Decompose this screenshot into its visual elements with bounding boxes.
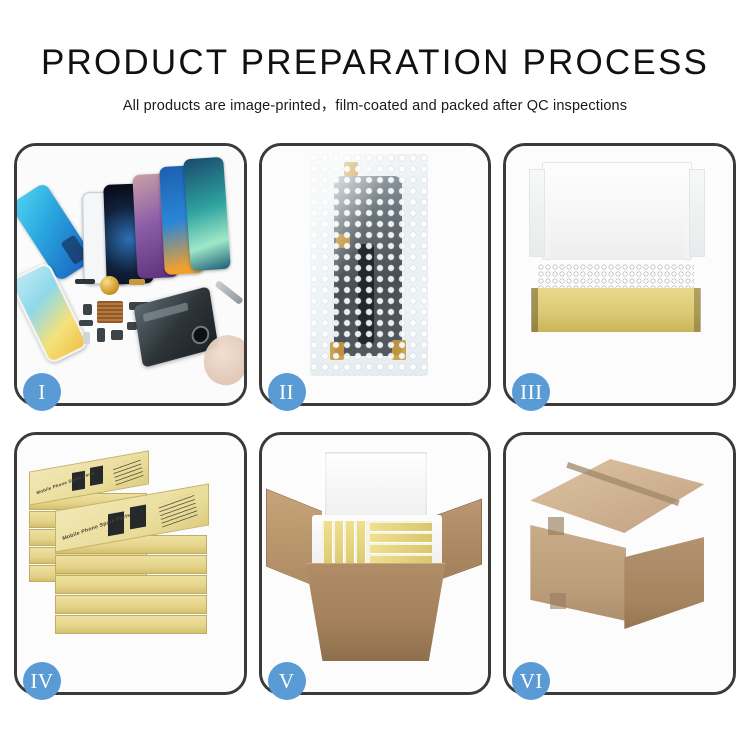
- chip-part-icon: [97, 301, 123, 323]
- step-4-image: Mobile Phone Spare Parts: [17, 435, 244, 692]
- step-panel-1: I: [14, 143, 247, 406]
- step-panel-5: V: [259, 432, 492, 695]
- yellow-box-icon: [370, 545, 432, 554]
- step-badge-4: IV: [23, 662, 61, 700]
- box-side: [55, 575, 207, 594]
- step-3-image: [506, 146, 733, 403]
- page-subtitle: All products are image-printed，film-coat…: [0, 94, 750, 115]
- phones-and-parts-illustration: [17, 146, 244, 403]
- step-badge-3: III: [512, 373, 550, 411]
- carton-body-icon: [306, 563, 446, 661]
- small-part-icon: [83, 304, 92, 315]
- carton-tape-patch: [548, 517, 564, 535]
- foam-sheet-icon: [550, 188, 684, 260]
- kraft-box-base-icon: [532, 288, 700, 332]
- small-part-icon: [79, 320, 93, 326]
- box-stack: Mobile Phone Spare Parts: [29, 457, 225, 641]
- step-badge-5: V: [268, 662, 306, 700]
- bubble-wrap-bag-icon: [310, 154, 428, 376]
- product-preparation-infographic: PRODUCT PREPARATION PROCESS All products…: [0, 0, 750, 750]
- bubble-wrap-illustration: [262, 146, 489, 403]
- carton-loading-illustration: [262, 435, 489, 692]
- page-title: PRODUCT PREPARATION PROCESS: [0, 43, 750, 83]
- carton-side-face: [624, 537, 704, 629]
- coil-part-icon: [100, 276, 119, 295]
- box-lid-text-block: [158, 492, 198, 527]
- step-badge-1: I: [23, 373, 61, 411]
- plastic-sheen: [310, 154, 428, 376]
- small-part-icon: [111, 330, 123, 340]
- step-panel-4: Mobile Phone Spare Parts: [14, 432, 247, 695]
- yellow-box-icon: [370, 523, 432, 532]
- step-badge-2: II: [268, 373, 306, 411]
- step-panel-6: VI: [503, 432, 736, 695]
- box-side: [55, 595, 207, 614]
- step-1-image: [17, 146, 244, 403]
- phone-teal-icon: [183, 157, 231, 272]
- sealed-carton-icon: [524, 459, 710, 635]
- step-2-image: [262, 146, 489, 403]
- small-part-icon: [75, 279, 95, 284]
- process-steps-grid: I II: [14, 143, 736, 695]
- inner-box-illustration: [506, 146, 733, 403]
- foam-lid-icon: [322, 449, 430, 519]
- step-5-image: [262, 435, 489, 692]
- small-part-icon: [129, 279, 145, 285]
- header: PRODUCT PREPARATION PROCESS All products…: [0, 0, 750, 115]
- carton-tape-patch: [550, 593, 566, 609]
- carton-front-face: [530, 525, 626, 621]
- box-side: [55, 615, 207, 634]
- box-lid-image: [130, 505, 146, 530]
- step-badge-6: VI: [512, 662, 550, 700]
- step-panel-2: II: [259, 143, 492, 406]
- bubble-wrapped-contents-icon: [538, 264, 694, 290]
- box-lid-text-block: [112, 457, 143, 486]
- yellow-box-icon: [370, 534, 432, 543]
- box-side: [55, 555, 207, 574]
- step-6-image: [506, 435, 733, 692]
- step-panel-3: III: [503, 143, 736, 406]
- stacked-boxes-illustration: Mobile Phone Spare Parts: [17, 435, 244, 692]
- sealed-carton-illustration: [506, 435, 733, 692]
- box-label-text: Mobile Phone Spare Parts: [36, 470, 95, 495]
- small-part-icon: [83, 332, 90, 344]
- small-part-icon: [97, 328, 105, 342]
